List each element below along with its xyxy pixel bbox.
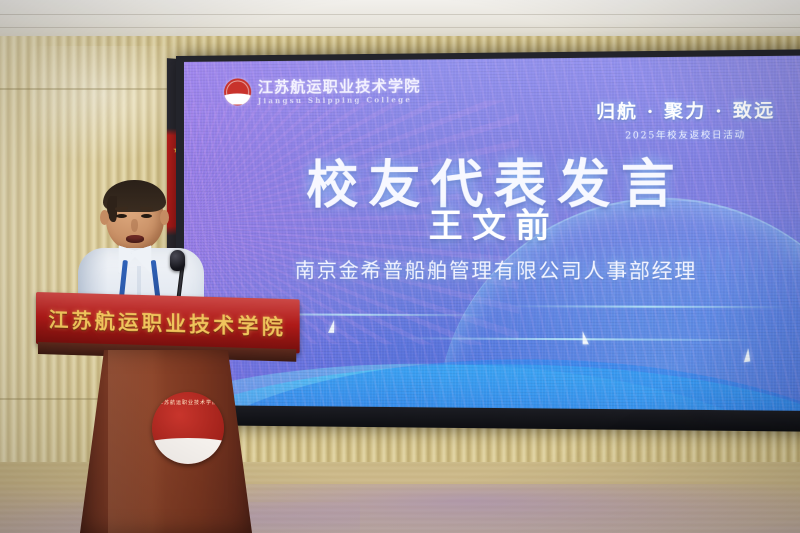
speaker-name: 王文前: [184, 198, 800, 248]
event-subtitle: 2025年校友返校日活动: [596, 128, 775, 142]
institution-logo: 江苏航运职业技术学院 Jiangsu Shipping College: [224, 77, 421, 106]
institution-name-en: Jiangsu Shipping College: [258, 96, 421, 104]
mountain-wave-emblem-icon: [224, 78, 251, 105]
mouth: [126, 235, 144, 243]
nose: [131, 219, 138, 232]
institution-name-cn: 江苏航运职业技术学院: [258, 78, 421, 95]
hair: [103, 180, 166, 212]
conference-hall-photo: ★: [0, 0, 800, 533]
ear-right: [160, 210, 169, 225]
podium-emblem-icon: 江苏航运职业技术学院: [152, 392, 224, 464]
wave-streak: [393, 337, 762, 341]
speaker-role: 南京金希普船舶管理有限公司人事部经理: [184, 254, 800, 285]
microphone-head-icon: [170, 250, 185, 271]
eye-left: [116, 214, 127, 218]
wave-streak: [506, 305, 788, 308]
sailboat-icon: [328, 319, 334, 332]
event-slogan-block: 归航 · 聚力 · 致远 2025年校友返校日活动: [596, 97, 775, 142]
event-slogan: 归航 · 聚力 · 致远: [596, 97, 775, 125]
podium-emblem-text: 江苏航运职业技术学院: [152, 399, 224, 406]
ear-left: [100, 210, 109, 225]
eye-right: [141, 214, 152, 218]
ceiling: [0, 0, 800, 40]
sailboat-icon: [742, 348, 750, 362]
sailboat-icon: [582, 331, 588, 344]
